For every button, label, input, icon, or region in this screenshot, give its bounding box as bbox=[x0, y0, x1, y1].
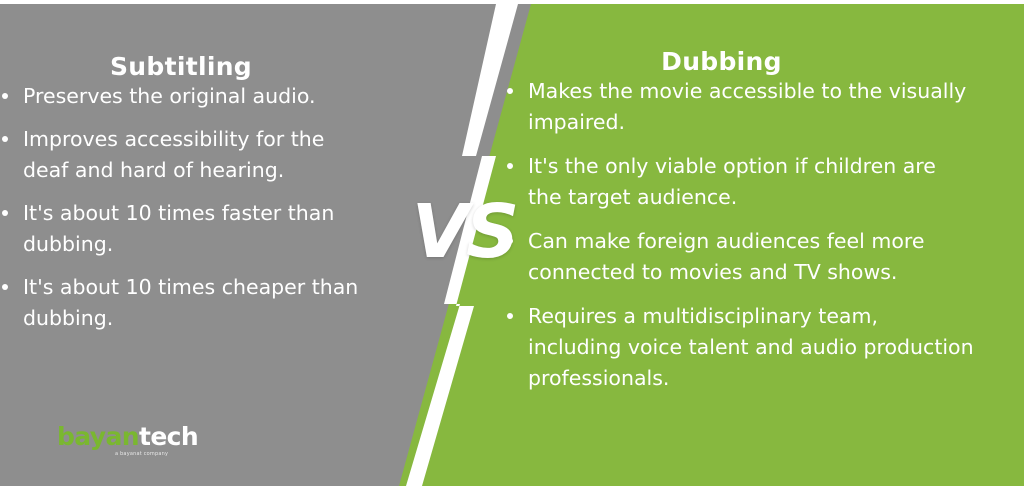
comparison-infographic: VS Subtitling Preserves the original aud… bbox=[0, 0, 1024, 492]
left-column-heading: Subtitling bbox=[0, 52, 420, 81]
logo-tagline: a bayanat company bbox=[115, 451, 198, 457]
right-bullet-list: Makes the movie accessible to the visual… bbox=[505, 76, 975, 394]
brand-logo: bayantech a bayanat company bbox=[57, 424, 198, 457]
list-item: It's about 10 times faster than dubbing. bbox=[0, 198, 372, 260]
list-item: Can make foreign audiences feel more con… bbox=[505, 226, 975, 288]
list-item: Requires a multidisciplinary team, inclu… bbox=[505, 301, 975, 394]
list-item: Makes the movie accessible to the visual… bbox=[505, 76, 975, 138]
logo-secondary-text: tech bbox=[139, 422, 198, 451]
list-item: Preserves the original audio. bbox=[0, 81, 372, 112]
logo-wordmark: bayantech bbox=[57, 424, 198, 450]
left-bullet-list: Preserves the original audio. Improves a… bbox=[0, 81, 372, 334]
left-column: Subtitling Preserves the original audio.… bbox=[0, 0, 420, 346]
list-item: It's the only viable option if children … bbox=[505, 151, 975, 213]
logo-primary-text: bayan bbox=[57, 422, 139, 451]
right-column: Dubbing Makes the movie accessible to th… bbox=[505, 0, 1010, 407]
list-item: Improves accessibility for the deaf and … bbox=[0, 124, 372, 186]
list-item: It's about 10 times cheaper than dubbing… bbox=[0, 272, 372, 334]
right-column-heading: Dubbing bbox=[505, 47, 1010, 76]
